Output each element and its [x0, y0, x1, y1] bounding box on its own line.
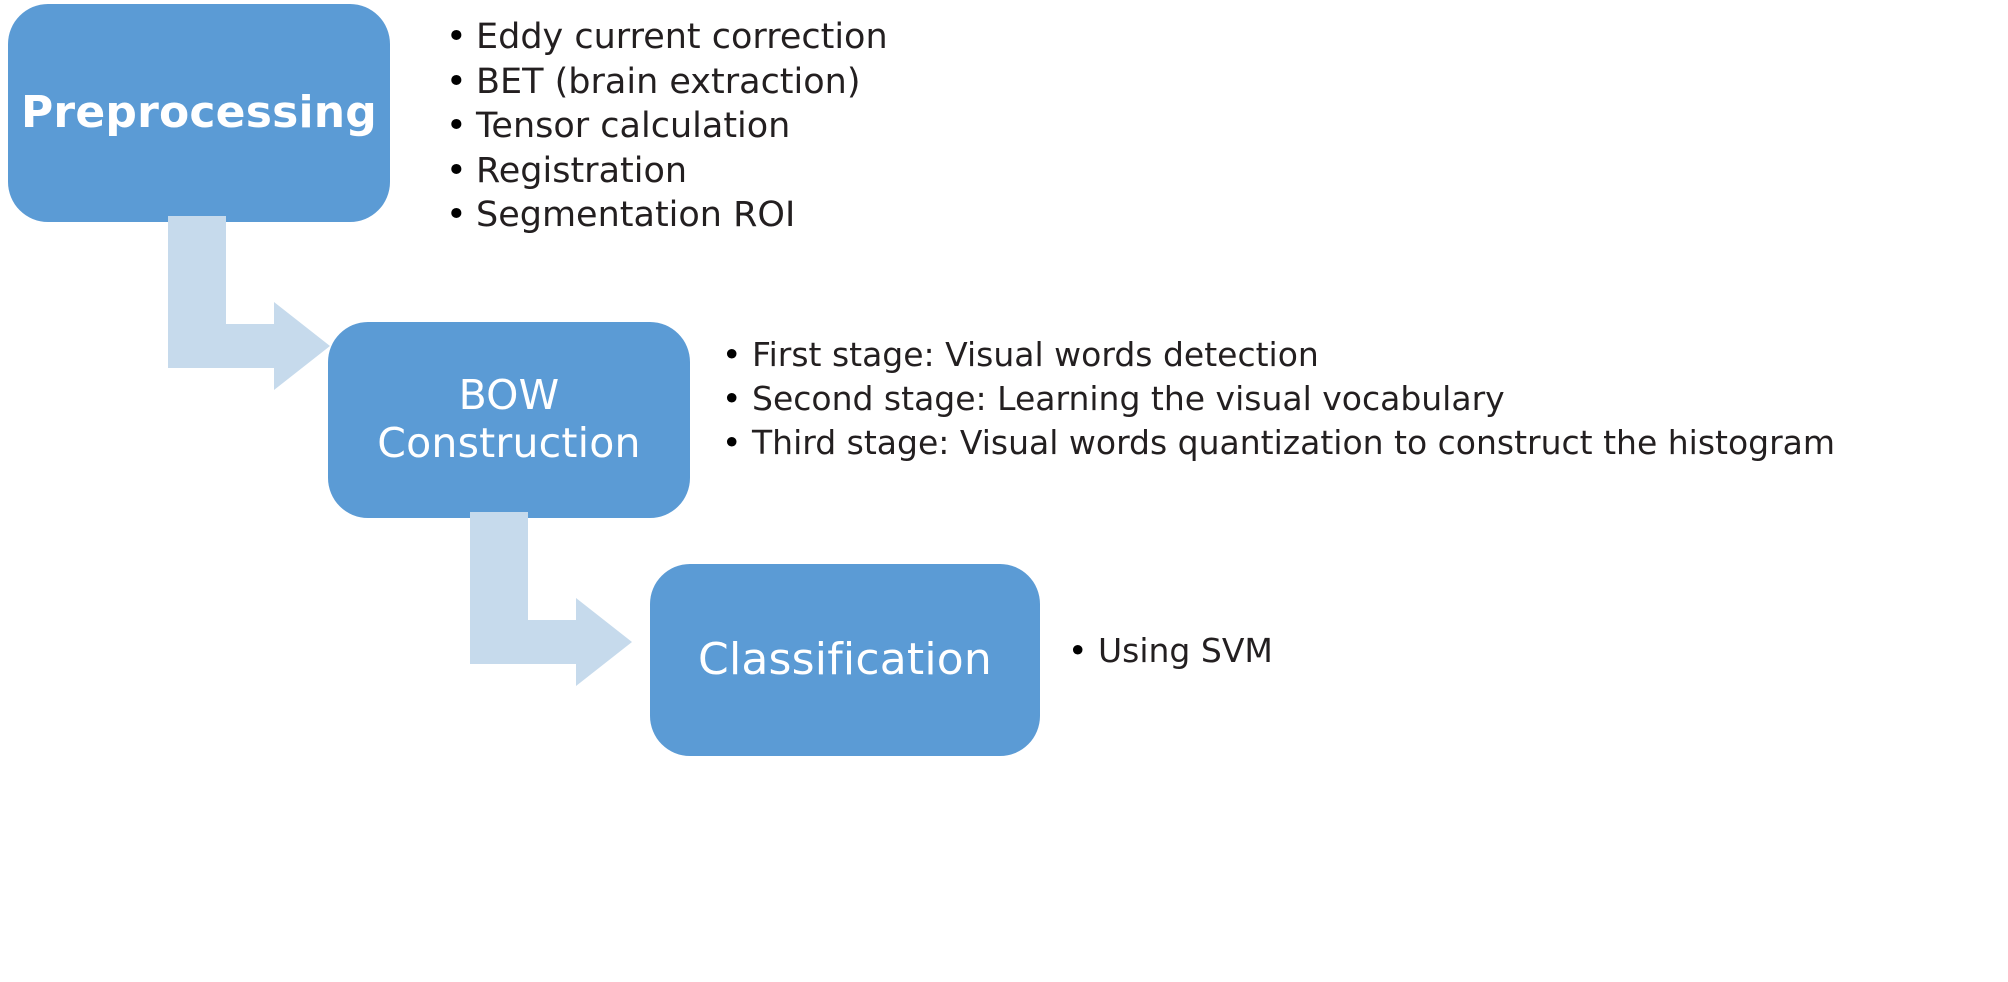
list-item: Eddy current correction [442, 18, 1442, 58]
process-box-bow-construction-label: BOW Construction [377, 372, 640, 467]
process-box-classification[interactable]: Classification [650, 564, 1040, 756]
bullet-list-classification: Using SVM [1064, 632, 1484, 671]
process-box-preprocessing[interactable]: Preprocessing [8, 4, 390, 222]
process-box-bow-construction[interactable]: BOW Construction [328, 322, 690, 518]
list-item: Third stage: Visual words quantization t… [718, 424, 1998, 463]
list-item: Tensor calculation [442, 107, 1442, 147]
process-box-preprocessing-label: Preprocessing [21, 87, 377, 138]
list-item: First stage: Visual words detection [718, 336, 1998, 375]
list-item: Second stage: Learning the visual vocabu… [718, 380, 1998, 419]
elbow-arrow-icon [470, 512, 670, 702]
flowchart-canvas: Preprocessing Eddy current correction BE… [0, 0, 2008, 982]
list-item: BET (brain extraction) [442, 63, 1442, 103]
arrow-bow-to-classification [470, 512, 670, 706]
process-box-classification-label: Classification [698, 634, 992, 685]
list-item: Registration [442, 152, 1442, 192]
list-item: Using SVM [1064, 632, 1484, 671]
bullet-list-bow-construction: First stage: Visual words detection Seco… [718, 336, 1998, 468]
bullet-list-preprocessing: Eddy current correction BET (brain extra… [442, 18, 1442, 241]
list-item: Segmentation ROI [442, 196, 1442, 236]
